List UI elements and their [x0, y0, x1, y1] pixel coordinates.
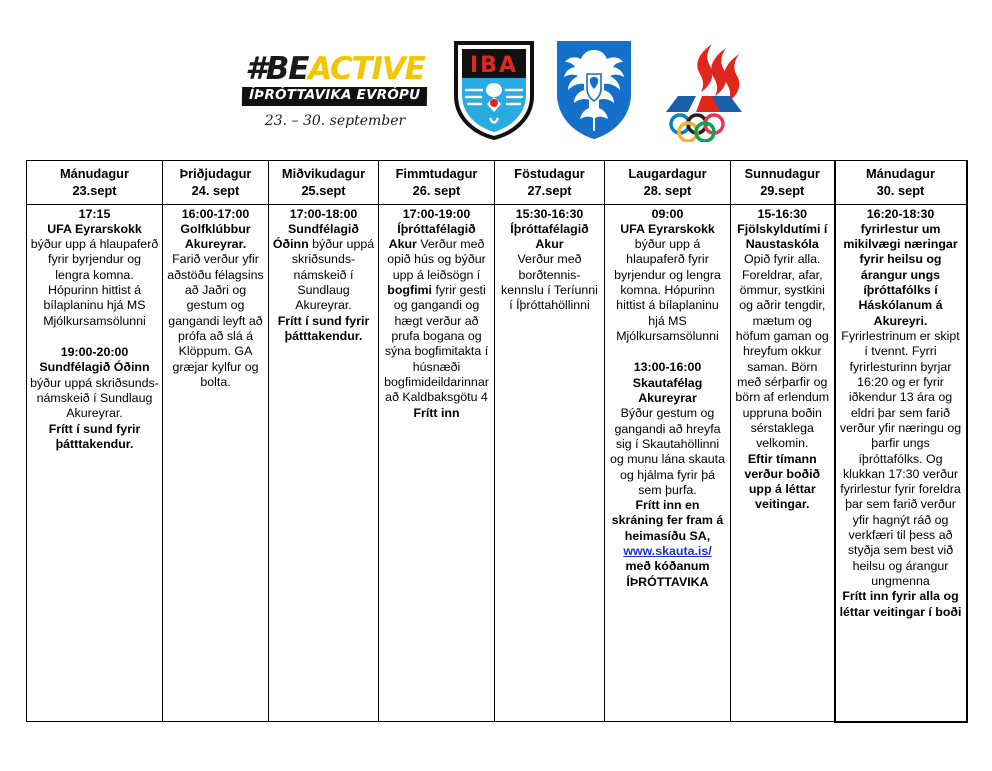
column-header-saturday28: Laugardagur 28. sept [605, 161, 731, 205]
table-body-row: 17:15 UFA Eyrarskokk býður upp á hlaupaf… [27, 204, 967, 722]
event-block: 16:20-18:30 fyrirlestur um mikilvægi nær… [839, 207, 963, 620]
header-day: Miðvikudagur [272, 165, 375, 182]
column-header-tuesday24: Þriðjudagur 24. sept [163, 161, 269, 205]
event-organizer: UFA Eyrarskokk [47, 222, 142, 236]
event-title: fyrirlestur um mikilvægi næringar fyrir … [843, 222, 957, 328]
event-time: 16:20-18:30 [867, 207, 935, 221]
table-header-row: Mánudagur 23.sept Þriðjudagur 24. sept M… [27, 161, 967, 205]
poster-page: #BEACTIVE ÍÞRÓTTAVIKA EVRÓPU 23. – 30. s… [0, 0, 992, 771]
header-date: 29.sept [734, 182, 831, 199]
iba-shield-logo: IBA [452, 38, 536, 142]
event-block: 15-16:30 Fjölskyldutími í Naustaskóla Op… [734, 207, 831, 513]
header-date: 24. sept [166, 182, 265, 199]
event-organizer: Skautafélag Akureyrar [633, 376, 703, 405]
column-header-wednesday25: Miðvikudagur 25.sept [269, 161, 379, 205]
event-block: 17:00-18:00 Sundfélagið Óðinn býður uppá… [272, 207, 375, 345]
event-block: 19:00-20:00 Sundfélagið Óðinn býður uppá… [30, 345, 159, 452]
header-date: 30. sept [839, 182, 963, 199]
header-day: Laugardagur [608, 165, 727, 182]
event-time: 15-16:30 [757, 207, 807, 221]
event-description: býður upp á hlaupaferð fyrir byrjendur o… [608, 237, 727, 344]
header-day: Þriðjudagur [166, 165, 265, 182]
header-date: 25.sept [272, 182, 375, 199]
event-code-note: með kóðanum ÍÞRÓTTAVIKA [608, 559, 727, 590]
event-description: Verður með borðtennis-kennslu í Teríunni… [498, 252, 601, 313]
event-note: Eftir tímann verður boðið upp á léttar v… [734, 452, 831, 513]
cell-tuesday24: 16:00-17:00 Golfklúbbur Akureyrar. Farið… [163, 204, 269, 722]
event-note: Frítt í sund fyrir þátttakendur. [30, 422, 159, 453]
event-organizer: Golfklúbbur Akureyrar. [180, 222, 250, 251]
event-time: 17:15 [79, 207, 111, 221]
cell-sunday29: 15-16:30 Fjölskyldutími í Naustaskóla Op… [731, 204, 835, 722]
column-header-monday23: Mánudagur 23.sept [27, 161, 163, 205]
event-organizer: Sundfélagið Óðinn [39, 360, 149, 374]
eagle-shield-logo [554, 38, 634, 142]
cell-friday27: 15:30-16:30 Íþróttafélagið Akur Verður m… [495, 204, 605, 722]
schedule-table: Mánudagur 23.sept Þriðjudagur 24. sept M… [26, 160, 968, 723]
event-time: 15:30-16:30 [516, 207, 584, 221]
event-description: Farið verður yfir aðstöðu félagsins að J… [166, 252, 265, 390]
event-note: Frítt inn fyrir alla og léttar veitingar… [839, 589, 963, 620]
event-time: 17:00-19:00 [403, 207, 471, 221]
event-block: 16:00-17:00 Golfklúbbur Akureyrar. Farið… [166, 207, 265, 391]
event-note: Frítt inn en skráning fer fram á heimasí… [608, 498, 727, 544]
beactive-dates: 23. – 30. september [265, 113, 405, 129]
event-block: 15:30-16:30 Íþróttafélagið Akur Verður m… [498, 207, 601, 314]
header-day: Fimmtudagur [382, 165, 491, 182]
beactive-campaign-logo: #BEACTIVE ÍÞRÓTTAVIKA EVRÓPU 23. – 30. s… [236, 38, 434, 142]
cell-monday23: 17:15 UFA Eyrarskokk býður upp á hlaupaf… [27, 204, 163, 722]
column-header-sunday29: Sunnudagur 29.sept [731, 161, 835, 205]
beactive-hash-be: #BE [245, 51, 308, 87]
event-block: 17:15 UFA Eyrarskokk býður upp á hlaupaf… [30, 207, 159, 330]
cell-thursday26: 17:00-19:00 Íþróttafélagið Akur Verður m… [379, 204, 495, 722]
header-day: Sunnudagur [734, 165, 831, 182]
event-time: 19:00-20:00 [61, 345, 129, 359]
schedule-table-wrap: Mánudagur 23.sept Þriðjudagur 24. sept M… [26, 160, 966, 723]
svg-text:IBA: IBA [470, 53, 518, 78]
event-time: 09:00 [652, 207, 684, 221]
event-time: 13:00-16:00 [634, 360, 702, 374]
event-block: 17:00-19:00 Íþróttafélagið Akur Verður m… [382, 207, 491, 421]
beactive-active: ACTIVE [308, 51, 424, 87]
header-date: 27.sept [498, 182, 601, 199]
event-organizer: UFA Eyrarskokk [620, 222, 715, 236]
cell-monday30: 16:20-18:30 fyrirlestur um mikilvægi nær… [835, 204, 967, 722]
isi-olympic-logo [652, 38, 756, 142]
beactive-subtitle: ÍÞRÓTTAVIKA EVRÓPU [242, 87, 428, 106]
header-day: Mánudagur [839, 165, 963, 182]
registration-link[interactable]: www.skauta.is/ [608, 544, 727, 559]
event-time: 16:00-17:00 [182, 207, 250, 221]
event-organizer: Fjölskyldutími í Naustaskóla [737, 222, 827, 251]
event-time: 17:00-18:00 [290, 207, 358, 221]
event-description: Opið fyrir alla. Foreldrar, afar, ömmur,… [734, 252, 831, 451]
header-day: Föstudagur [498, 165, 601, 182]
column-header-friday27: Föstudagur 27.sept [495, 161, 605, 205]
column-header-monday30: Mánudagur 30. sept [835, 161, 967, 205]
beactive-wordmark: #BEACTIVE [245, 54, 424, 85]
event-description-after: fyrir gesti og gangandi og hægt verður a… [384, 283, 489, 404]
header-date: 26. sept [382, 182, 491, 199]
header-date: 23.sept [30, 182, 159, 199]
event-note: Frítt inn [382, 406, 491, 421]
event-description: Fyrirlestrinum er skipt í tvennt. Fyrri … [839, 329, 963, 589]
event-activity-highlight: bogfimi [387, 283, 432, 297]
event-description: býður upp á hlaupaferð fyrir byrjendur o… [30, 237, 159, 329]
event-note: Frítt í sund fyrir þátttakendur. [272, 314, 375, 345]
event-block: 09:00 UFA Eyrarskokk býður upp á hlaupaf… [608, 207, 727, 345]
event-organizer: Íþróttafélagið Akur [510, 222, 588, 251]
event-block: 13:00-16:00 Skautafélag Akureyrar Býður … [608, 360, 727, 590]
cell-wednesday25: 17:00-18:00 Sundfélagið Óðinn býður uppá… [269, 204, 379, 722]
cell-saturday28: 09:00 UFA Eyrarskokk býður upp á hlaupaf… [605, 204, 731, 722]
header-date: 28. sept [608, 182, 727, 199]
event-description: Býður gestum og gangandi að hreyfa sig í… [608, 406, 727, 498]
column-header-thursday26: Fimmtudagur 26. sept [379, 161, 495, 205]
event-description: býður uppá skriðsunds-námskeið í Sundlau… [30, 376, 159, 422]
header-logo-band: #BEACTIVE ÍÞRÓTTAVIKA EVRÓPU 23. – 30. s… [0, 30, 992, 150]
header-day: Mánudagur [30, 165, 159, 182]
